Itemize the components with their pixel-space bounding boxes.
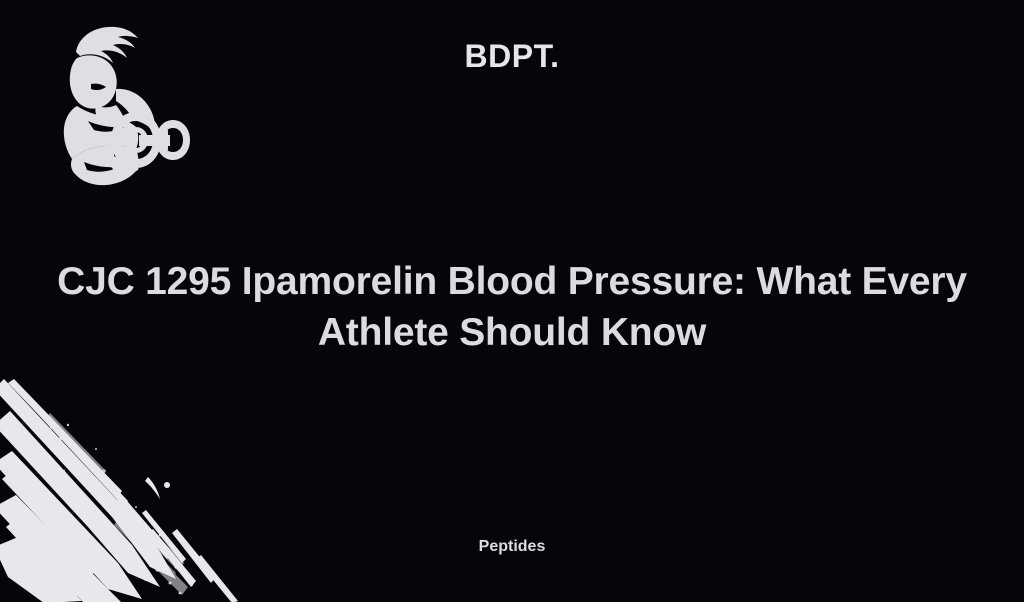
diagonal-brush-strokes-icon (0, 367, 290, 602)
brand-wordmark: BDPT. (0, 36, 1024, 76)
category-label: Peptides (0, 536, 1024, 558)
article-cover: BDPT. CJC 1295 Ipamorelin Blood Pressure… (0, 0, 1024, 602)
page-title: CJC 1295 Ipamorelin Blood Pressure: What… (36, 256, 988, 358)
